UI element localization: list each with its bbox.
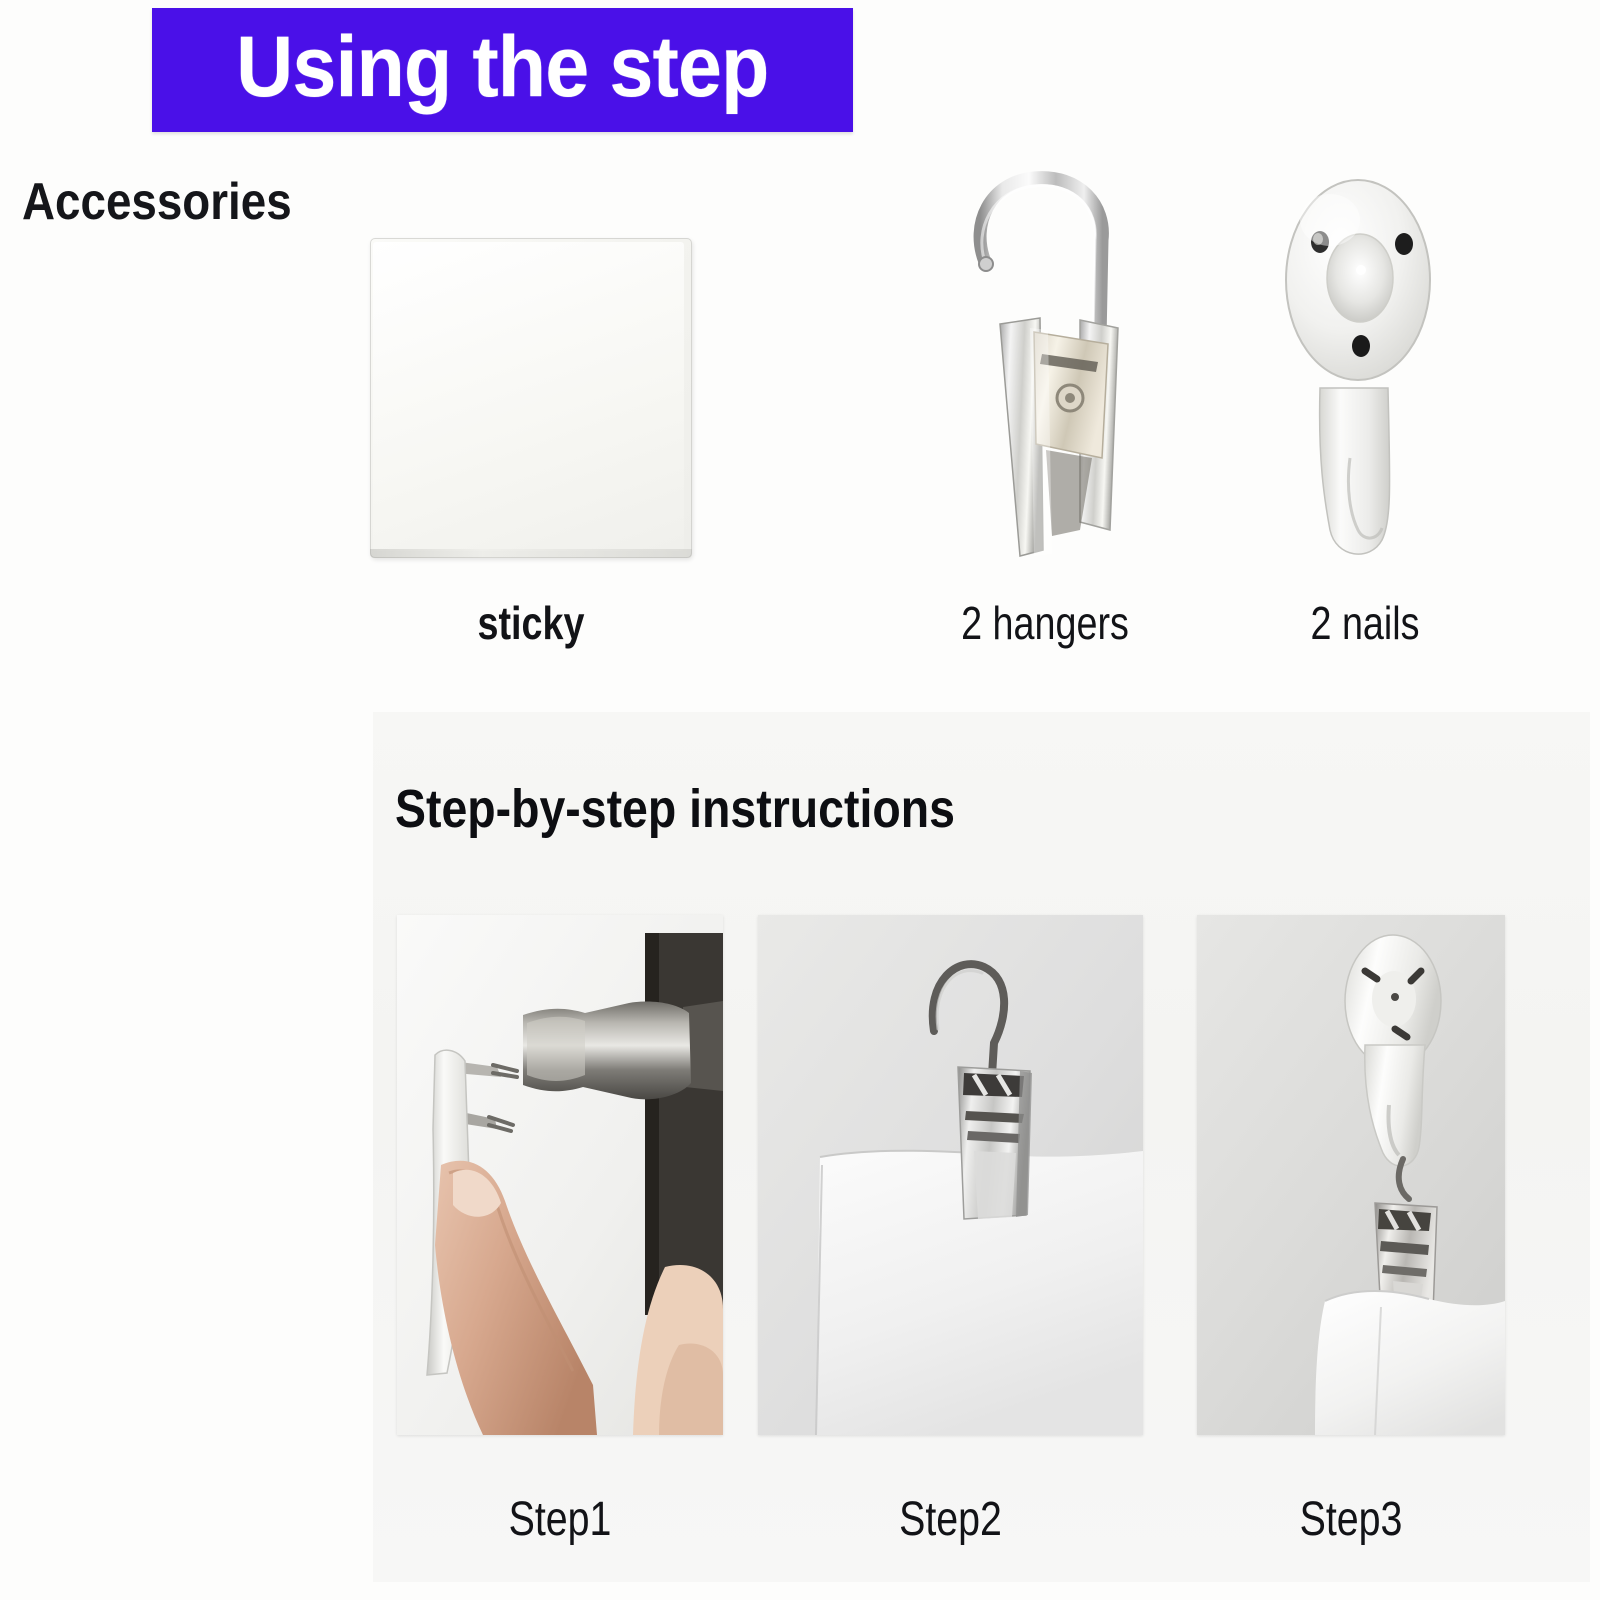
accessory-label-hangers: 2 hangers xyxy=(938,596,1151,650)
instructions-heading: Step-by-step instructions xyxy=(395,778,955,840)
step-photo-3 xyxy=(1197,915,1505,1435)
step-photo-1 xyxy=(397,915,723,1435)
title-banner: Using the step xyxy=(152,8,853,132)
wall-hook-nail-icon xyxy=(1258,158,1468,578)
step-label-2: Step2 xyxy=(793,1492,1109,1547)
step-label-1: Step1 xyxy=(426,1492,693,1547)
accessories-heading: Accessories xyxy=(22,172,292,232)
step-photo-2 xyxy=(758,915,1143,1435)
accessory-label-nails: 2 nails xyxy=(1271,596,1460,650)
page-title: Using the step xyxy=(236,24,768,116)
hook-clip-icon xyxy=(930,158,1160,566)
accessory-label-sticky: sticky xyxy=(399,596,663,650)
adhesive-pad-icon xyxy=(370,238,692,558)
step-label-3: Step3 xyxy=(1225,1492,1478,1547)
